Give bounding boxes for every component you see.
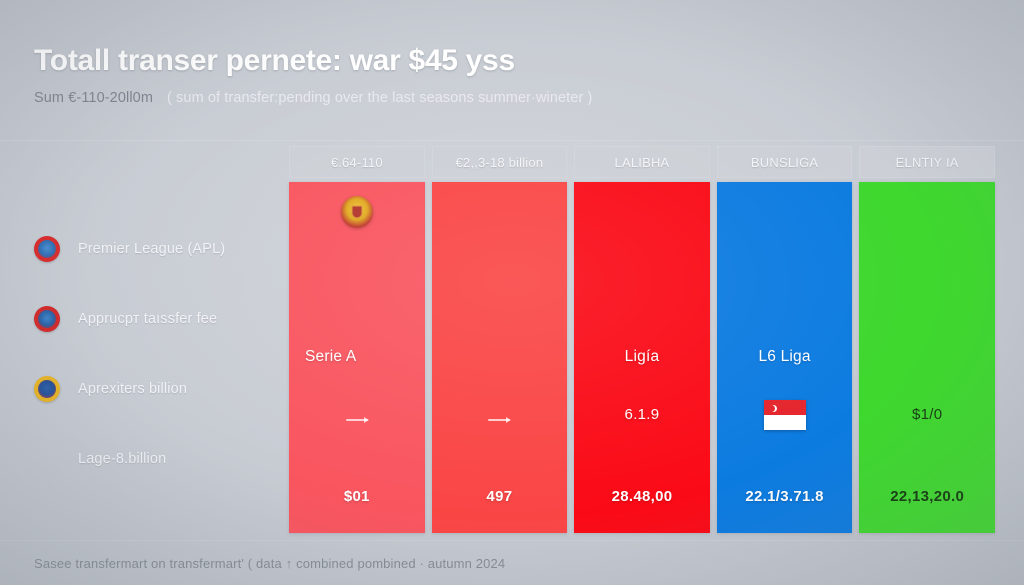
arrow-icon xyxy=(346,419,368,421)
chart-legend: Premier League (APL)Appruсрт taıssfer fe… xyxy=(34,232,284,476)
crest-inner xyxy=(38,310,56,328)
bar-mid-value: 6.1.9 xyxy=(574,406,710,423)
club-crest-icon xyxy=(34,236,60,262)
bar-label: L6 Liga xyxy=(717,348,853,366)
bar-value-label: 28.48,00 xyxy=(574,488,710,505)
chart-column[interactable]: ELNTIY IA$1/022,13,20.0 xyxy=(859,146,995,533)
chart-subtitle: Sum €-110-20ll0m ( sum of transfer:pendi… xyxy=(34,90,734,106)
bar-value-label: 497 xyxy=(432,488,568,505)
column-header-label: LALIBHA xyxy=(615,155,670,170)
column-header-label: €2,,3-18 billion xyxy=(456,155,544,170)
chart-column[interactable]: LALIBHALigía6.1.928.48,00 xyxy=(574,146,710,533)
legend-item[interactable]: Lage-8.billion xyxy=(34,442,284,476)
chart-page: Totall transer pernete: war $45 yss Sum … xyxy=(0,0,1024,585)
column-header-label: €.64-110 xyxy=(331,155,383,170)
chart-column[interactable]: €.64-110Serie A$01 xyxy=(289,146,425,533)
bar-value-label: 22.1/3.71.8 xyxy=(717,488,853,505)
legend-item-label: Appruсрт taıssfer fee xyxy=(78,311,217,327)
bar[interactable]: L6 Liga22.1/3.71.8 xyxy=(717,182,853,533)
legend-item-label: Aprexiters billion xyxy=(78,381,187,397)
bar-value-label: 22,13,20.0 xyxy=(859,488,995,505)
bar[interactable]: Serie A$01 xyxy=(289,182,425,533)
club-crest-icon xyxy=(34,376,60,402)
country-flag-icon xyxy=(764,400,806,430)
bar-label: Serie A xyxy=(289,348,425,366)
bar[interactable]: $1/022,13,20.0 xyxy=(859,182,995,533)
subtitle-note: ( sum of transfer:pending over the last … xyxy=(167,90,592,106)
column-header: €.64-110 xyxy=(289,146,425,178)
subtitle-main: Sum €-110-20ll0m xyxy=(34,90,153,106)
bar-chart: €.64-110Serie A$01€2,,3-18 billion497LAL… xyxy=(289,146,995,533)
column-header: LALIBHA xyxy=(574,146,710,178)
arrow-icon xyxy=(488,419,510,421)
chart-header: Totall transer pernete: war $45 yss Sum … xyxy=(34,44,734,106)
legend-item[interactable]: Aprexiters billion xyxy=(34,372,284,406)
chart-column[interactable]: €2,,3-18 billion497 xyxy=(432,146,568,533)
bar[interactable]: Ligía6.1.928.48,00 xyxy=(574,182,710,533)
column-header: €2,,3-18 billion xyxy=(432,146,568,178)
legend-item[interactable]: Premier League (APL) xyxy=(34,232,284,266)
crest-inner xyxy=(38,240,56,258)
legend-item-label: Lage-8.billion xyxy=(78,451,166,467)
bar[interactable]: 497 xyxy=(432,182,568,533)
column-header: BUNSLIGA xyxy=(717,146,853,178)
column-header: ELNTIY IA xyxy=(859,146,995,178)
crest-inner xyxy=(38,380,56,398)
club-crest-icon xyxy=(341,196,373,228)
chart-source-footer: Sasee transfermart on transfermart' ( da… xyxy=(34,556,505,571)
legend-item-label: Premier League (APL) xyxy=(78,241,225,257)
column-header-label: ELNTIY IA xyxy=(896,155,959,170)
divider-bottom xyxy=(0,540,1024,541)
bar-mid-value: $1/0 xyxy=(859,406,995,423)
chart-column[interactable]: BUNSLIGAL6 Liga22.1/3.71.8 xyxy=(717,146,853,533)
bar-label: Ligía xyxy=(574,348,710,366)
legend-item[interactable]: Appruсрт taıssfer fee xyxy=(34,302,284,336)
club-crest-icon xyxy=(34,306,60,332)
bar-value-label: $01 xyxy=(289,488,425,505)
column-header-label: BUNSLIGA xyxy=(751,155,818,170)
divider-top xyxy=(0,140,1024,141)
page-title: Totall transer pernete: war $45 yss xyxy=(34,44,734,77)
